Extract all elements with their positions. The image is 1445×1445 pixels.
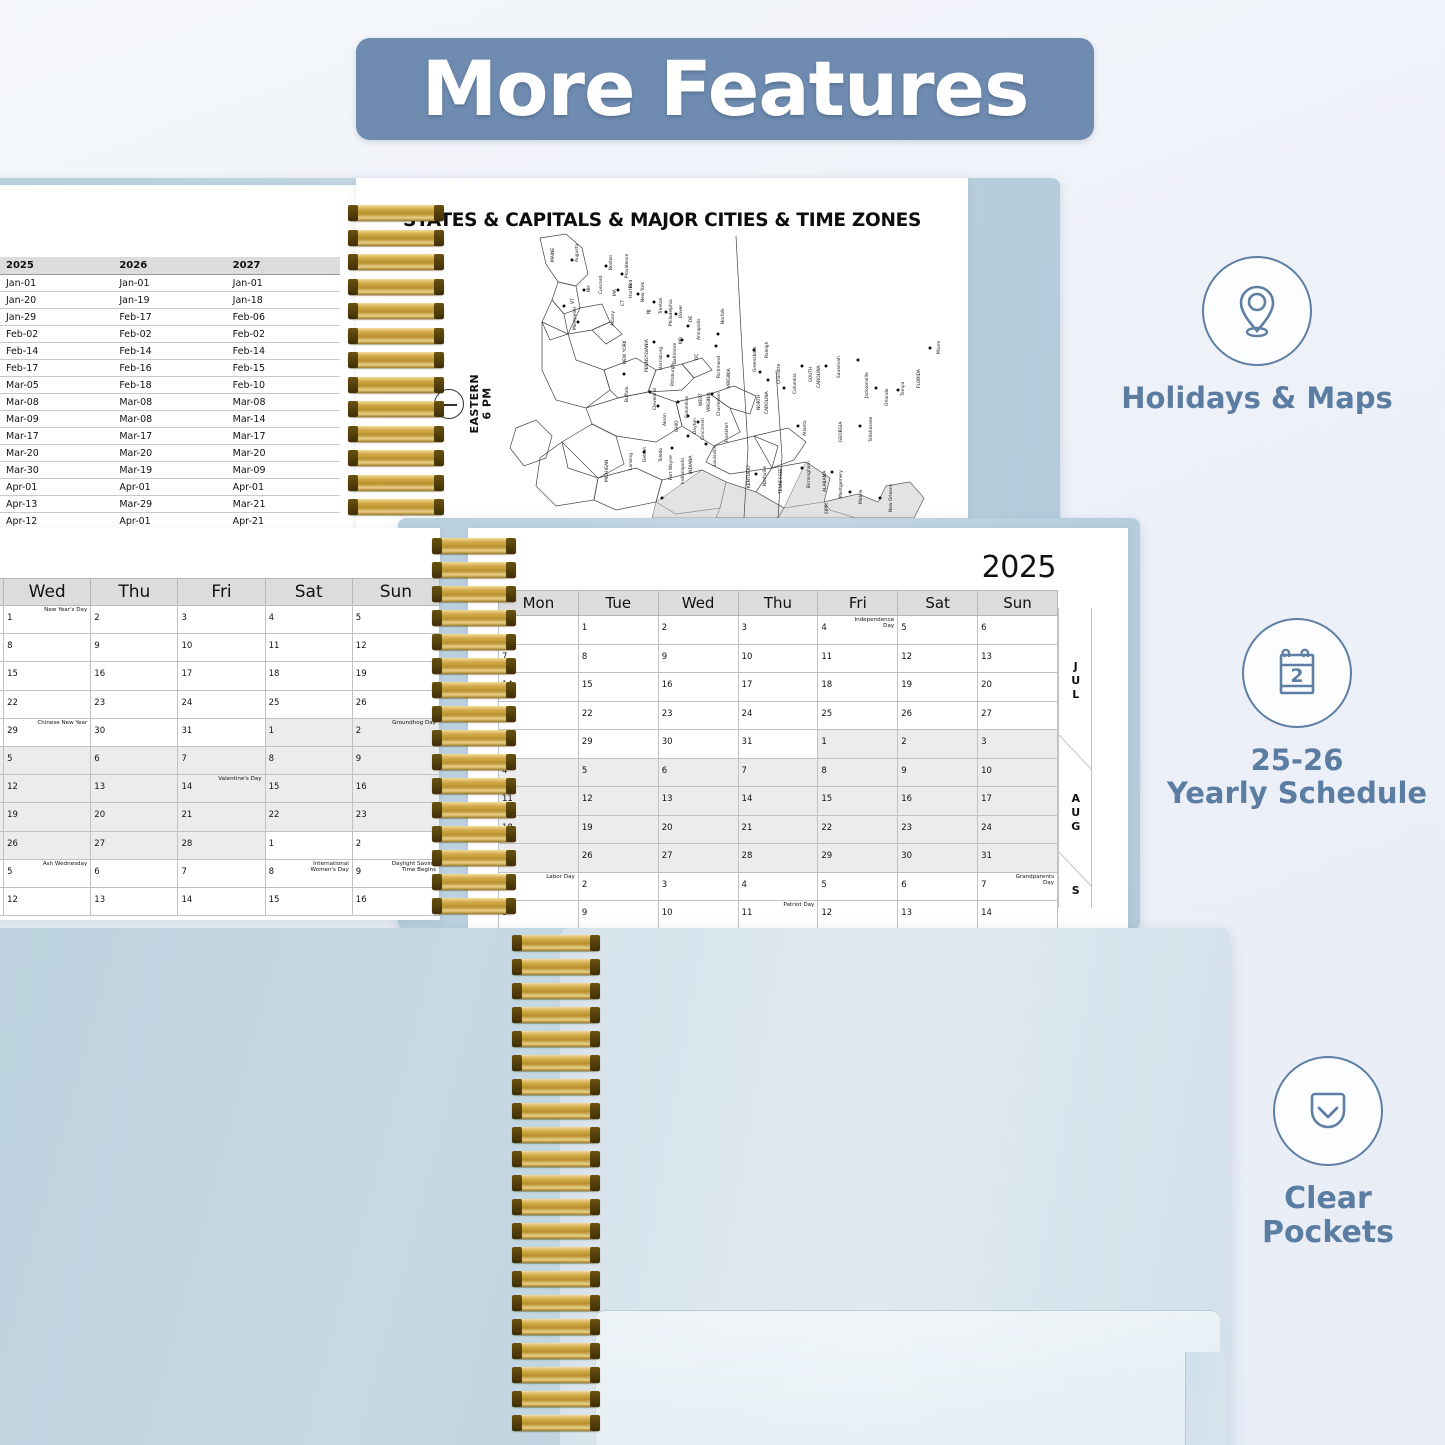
calendar-day-cell[interactable]: 10 [658,901,738,930]
month-tab-jul[interactable]: JUL [1059,608,1091,753]
calendar-day-cell[interactable]: 5 [578,758,658,787]
svg-text:TENNESSEE: TENNESSEE [778,468,784,495]
calendar-day-cell[interactable]: 3 [978,730,1058,759]
spiral-coil [432,610,516,626]
feature-yearly-schedule: 2 25-26 Yearly Schedule [1152,618,1442,810]
calendar-day-cell[interactable]: 9 [91,634,178,662]
calendar-day-cell[interactable]: 12 [4,775,91,803]
calendar-day-cell[interactable]: 3 [738,616,818,645]
calendar-week-row: 18192021222324 [499,815,1058,844]
calendar-day-cell[interactable]: 5 [898,616,978,645]
holidays-cell: Mar-05 [0,377,113,394]
calendar-day-cell[interactable]: 5Ash Wednesday [4,859,91,887]
calendar-day-cell[interactable]: 17 [978,787,1058,816]
calendar-day-cell[interactable]: 16 [898,787,978,816]
calendar-day-number: 18 [269,669,280,679]
spiral-coil [348,279,444,295]
svg-text:Tallahassee: Tallahassee [868,416,874,443]
feature-holidays-label: Holidays & Maps [1092,382,1422,415]
holidays-cell: Mar-09 [0,411,113,428]
holidays-cell: Mar-17 [227,428,340,445]
svg-text:Albany: Albany [610,311,616,326]
calendar-day-number: 23 [901,823,912,833]
svg-text:Charlotte: Charlotte [776,363,782,384]
holidays-cell: Apr-13 [0,496,113,513]
calendar-day-cell[interactable]: 2 [578,872,658,901]
calendar-day-cell[interactable]: 14 [978,901,1058,930]
calendar-day-cell[interactable]: 18 [818,673,898,702]
calendar-right-grid-wrap: MonTueWedThuFriSatSun 1234Independence D… [498,590,1058,930]
spiral-coil [432,826,516,842]
clear-pocket-panel [595,1310,1220,1445]
spiral-coil [432,682,516,698]
calendar-day-cell[interactable]: 22 [578,701,658,730]
feature-holidays-maps: Holidays & Maps [1092,256,1422,415]
calendar-day-cell[interactable]: 17 [738,673,818,702]
calendar-day-cell[interactable]: 10 [178,634,265,662]
calendar-day-cell[interactable]: 15 [4,662,91,690]
calendar-day-number: 31 [742,737,753,747]
calendar-day-number: 20 [981,680,992,690]
svg-text:SIPPI: SIPPI [824,503,830,514]
calendar-day-cell[interactable]: 9 [352,746,439,774]
calendar-day-cell[interactable]: 16 [352,775,439,803]
calendar-day-number: 26 [356,698,367,708]
calendar-day-cell[interactable]: 1New Year's Day [4,606,91,634]
calendar-day-cell[interactable]: 22 [265,803,352,831]
holidays-cell: Feb-02 [227,326,340,343]
calendar-day-cell[interactable]: 13 [91,775,178,803]
calendar-day-cell[interactable]: 10 [738,644,818,673]
calendar-day-cell[interactable]: 11 [818,644,898,673]
calendar-holiday-label: Groundhog Day [392,720,436,726]
calendar-day-number: 15 [269,895,280,905]
holidays-cell: Mar-20 [227,445,340,462]
calendar-holiday-label: Patriot Day [783,902,814,908]
calendar-day-cell[interactable]: 6 [978,616,1058,645]
calendar-day-cell[interactable]: 22 [4,690,91,718]
svg-text:Augusta: Augusta [574,244,580,262]
calendar-day-cell[interactable]: 11 [265,634,352,662]
calendar-day-cell[interactable]: 9 [578,901,658,930]
clear-pocket-notch [1185,1352,1225,1445]
calendar-day-cell[interactable]: 26 [578,844,658,873]
calendar-day-cell[interactable]: 26 [352,690,439,718]
svg-text:Lansing: Lansing [628,453,634,470]
calendar-holiday-label: Labor Day [546,874,575,880]
spiral-coil [348,401,444,417]
holidays-cell: Mar-08 [113,394,226,411]
calendar-day-cell[interactable]: 2Groundhog Day [352,718,439,746]
calendar-day-cell[interactable]: 31 [178,718,265,746]
calendar-day-number: 2 [356,839,361,849]
holidays-cell: Mar-29 [113,496,226,513]
pocket-icon-ring [1273,1056,1383,1166]
holidays-table-header-row: 202520262027 [0,257,340,275]
calendar-day-header-fri: Fri [818,591,898,616]
calendar-day-number: 13 [662,794,673,804]
calendar-day-number: 23 [94,698,105,708]
calendar-day-cell[interactable]: 4 [265,606,352,634]
calendar-day-cell[interactable]: 23 [352,803,439,831]
calendar-day-number: 9 [662,652,667,662]
calendar-day-cell[interactable]: 15 [265,775,352,803]
calendar-day-cell[interactable]: 1 [818,730,898,759]
calendar-day-cell[interactable]: 20 [978,673,1058,702]
calendar-day-cell[interactable]: 4 [738,872,818,901]
svg-text:Miami: Miami [936,341,942,354]
svg-text:RI: RI [628,284,634,288]
page-title: More Features [422,51,1029,127]
holidays-cell: Mar-30 [0,462,113,479]
calendar-day-cell[interactable]: 24 [978,815,1058,844]
calendar-day-number: 15 [7,669,18,679]
calendar-day-cell[interactable]: 13 [978,644,1058,673]
calendar-day-cell[interactable]: 27 [658,844,738,873]
calendar-day-cell[interactable]: 13 [91,887,178,915]
svg-text:Cleveland: Cleveland [652,388,658,410]
calendar-day-cell[interactable]: 20 [91,803,178,831]
calendar-day-cell[interactable]: 7 [178,859,265,887]
svg-text:Indianapolis: Indianapolis [680,457,686,484]
calendar-day-number: 27 [94,839,105,849]
calendar-right-body: 1234Independence Day56789101112131415161… [499,616,1058,930]
calendar-day-cell[interactable]: 8 [818,758,898,787]
calendar-day-number: 14 [181,895,192,905]
svg-text:Concord: Concord [598,276,604,294]
svg-text:Charleston: Charleston [716,392,722,416]
calendar-day-cell[interactable]: 6 [898,872,978,901]
calendar-day-cell[interactable]: 9 [898,758,978,787]
holidays-cell: Feb-17 [113,309,226,326]
calendar-day-number: 17 [981,794,992,804]
svg-text:Louisville: Louisville [712,445,718,466]
holidays-table-row: Jan-20Jan-19Jan-18 [0,292,340,309]
spiral-binding-middle [432,538,516,922]
pocket-chevron-icon [1298,1081,1358,1141]
calendar-day-cell[interactable]: 12 [818,901,898,930]
calendar-day-number: 16 [356,895,367,905]
svg-text:CAROLINA: CAROLINA [764,391,770,414]
spiral-coil [512,1391,600,1407]
spiral-coil [432,850,516,866]
calendar-day-cell[interactable]: 9 [658,644,738,673]
calendar-holiday-label: Chinese New Year [37,720,87,726]
spiral-coil [512,1103,600,1119]
calendar-day-cell[interactable]: 5 [818,872,898,901]
calendar-day-cell[interactable]: 17 [178,662,265,690]
spiral-coil [348,328,444,344]
calendar-holiday-label: Independence Day [845,617,894,630]
feature-schedule-label: 25-26 Yearly Schedule [1152,744,1442,810]
calendar-day-cell[interactable]: 19 [4,803,91,831]
calendar-day-number: 14 [981,908,992,918]
calendar-day-cell[interactable]: 30 [91,718,178,746]
svg-text:Dover: Dover [678,305,684,318]
calendar-day-cell[interactable]: 16 [91,662,178,690]
calendar-day-cell[interactable]: 31 [738,730,818,759]
calendar-day-cell[interactable]: 7 [738,758,818,787]
calendar-day-number: 2 [901,737,906,747]
month-tab-strip[interactable]: JULAUGS [1058,608,1092,908]
calendar-day-number: 6 [981,623,986,633]
calendar-day-cell[interactable]: 24 [178,690,265,718]
calendar-week-row: 28293031123 [499,730,1058,759]
calendar-day-cell[interactable]: 8International Women's Day [265,859,352,887]
calendar-day-cell[interactable]: 27 [978,701,1058,730]
calendar-day-number: 12 [356,641,367,651]
svg-text:Mobile: Mobile [858,489,864,504]
spiral-coil [432,874,516,890]
calendar-day-cell[interactable]: 1 [578,616,658,645]
holidays-cell: Mar-20 [113,445,226,462]
calendar-day-number: 27 [981,709,992,719]
calendar-day-cell[interactable]: 5 [352,606,439,634]
calendar-day-cell[interactable]: 9Daylight Saving Time Begins [352,859,439,887]
calendar-day-number: 1 [821,737,826,747]
calendar-day-number: 9 [901,766,906,776]
monthly-calendar-left-page: eWedThuFriSatSun 1New Year's Day23458910… [0,528,440,920]
calendar-day-number: 3 [662,880,667,890]
calendar-day-cell[interactable]: 15 [265,887,352,915]
holidays-table-row: Feb-17Feb-16Feb-15 [0,360,340,377]
holidays-cell: Feb-15 [227,360,340,377]
calendar-day-number: 10 [662,908,673,918]
calendar-day-number: 23 [662,709,673,719]
calendar-left-body: 1New Year's Day2345891011121516171819222… [0,606,440,916]
svg-text:Philadelphia: Philadelphia [668,299,674,326]
svg-text:VIRGINIA: VIRGINIA [726,368,732,388]
calendar-day-cell[interactable]: 12 [4,887,91,915]
calendar-day-cell[interactable]: 19 [898,673,978,702]
calendar-day-cell[interactable]: 20 [658,815,738,844]
holidays-cell: Apr-01 [113,513,226,530]
svg-text:Providence: Providence [624,254,630,278]
holidays-cell: Feb-14 [0,343,113,360]
calendar-day-cell[interactable]: 26 [4,831,91,859]
calendar-day-cell[interactable]: 6 [91,746,178,774]
holidays-col-header-2: 2027 [227,257,340,275]
svg-text:Pittsburgh: Pittsburgh [670,363,676,386]
calendar-day-cell[interactable]: 14Valentine's Day [178,775,265,803]
calendar-day-cell[interactable]: 3 [658,872,738,901]
holidays-cell: Apr-21 [227,513,340,530]
calendar-day-number: 15 [821,794,832,804]
calendar-day-cell[interactable]: 23 [898,815,978,844]
calendar-day-number: 11 [821,652,832,662]
calendar-day-cell[interactable]: 30 [898,844,978,873]
calendar-day-cell[interactable]: 25 [818,701,898,730]
calendar-day-cell[interactable]: 19 [578,815,658,844]
more-features-banner: More Features [356,38,1094,140]
calendar-day-cell[interactable]: 28 [738,844,818,873]
calendar-right-table: MonTueWedThuFriSatSun 1234Independence D… [498,590,1058,930]
calendar-day-number: 5 [821,880,826,890]
calendar-day-cell[interactable]: 12 [578,787,658,816]
location-pin-icon [1226,280,1288,342]
calendar-day-cell[interactable]: 29 [818,844,898,873]
holidays-col-header-1: 2026 [113,257,226,275]
calendar-day-cell[interactable]: 13 [898,901,978,930]
calendar-day-cell[interactable]: 14 [178,887,265,915]
svg-text:WEST: WEST [698,393,704,406]
calendar-day-cell[interactable]: 14 [738,787,818,816]
calendar-day-number: 16 [901,794,912,804]
calendar-day-number: 29 [7,726,18,736]
svg-text:New York: New York [640,281,646,302]
calendar-day-cell[interactable]: 23 [658,701,738,730]
spiral-coil [432,754,516,770]
calendar-day-cell[interactable]: 11Patriot Day [738,901,818,930]
calendar-day-number: 10 [181,641,192,651]
calendar-week-row: 21222324252627 [499,701,1058,730]
calendar-day-cell[interactable]: 25 [265,690,352,718]
calendar-day-cell[interactable]: 28 [178,831,265,859]
month-tab-s[interactable]: S [1059,873,1091,908]
calendar-day-cell[interactable]: 7Grandparents Day [978,872,1058,901]
calendar-day-cell[interactable]: 8 [4,634,91,662]
calendar-day-number: 22 [269,810,280,820]
calendar-day-cell[interactable]: 12 [352,634,439,662]
calendar-day-number: 4 [269,613,274,623]
calendar-day-cell[interactable]: 19 [352,662,439,690]
calendar-day-number: 7 [742,766,747,776]
calendar-day-number: 8 [269,754,274,764]
spiral-coil [348,377,444,393]
calendar-day-number: 14 [181,782,192,792]
calendar-day-cell[interactable]: 2 [91,606,178,634]
calendar-holiday-label: Daylight Saving Time Begins [383,861,436,874]
calendar-day-cell[interactable]: 5 [4,746,91,774]
holidays-table-row: Mar-05Feb-18Feb-10 [0,377,340,394]
month-tab-aug[interactable]: AUG [1059,756,1091,870]
calendar-day-cell[interactable]: 10 [978,758,1058,787]
calendar-day-cell[interactable]: 23 [91,690,178,718]
us-eastern-map-illustration: MAINE Augusta Boston Providence Hartford… [506,230,966,518]
calendar-day-header-fri: Fri [178,579,265,606]
calendar-day-number: 26 [7,839,18,849]
calendar-day-number: 13 [94,782,105,792]
feature-pockets-line1: Clear [1284,1181,1372,1216]
holidays-table-row: Apr-01Apr-01Apr-01 [0,479,340,496]
calendar-day-cell[interactable]: 8 [578,644,658,673]
timezone-label: EASTERN6 PM [469,374,494,433]
calendar-day-cell[interactable]: 26 [898,701,978,730]
spiral-coil [348,450,444,466]
svg-text:CAROLINA: CAROLINA [816,365,822,388]
calendar-week-row: 2223242526 [0,690,440,718]
calendar-day-cell[interactable]: 1 [265,831,352,859]
calendar-day-cell[interactable]: 13 [658,787,738,816]
calendar-day-cell[interactable]: 15 [578,673,658,702]
holidays-cell: Mar-17 [113,428,226,445]
calendar-day-cell[interactable]: 7 [178,746,265,774]
calendar-day-number: 13 [901,908,912,918]
calendar-day-cell[interactable]: 21 [178,803,265,831]
calendar-day-cell[interactable]: 8 [265,746,352,774]
calendar-day-number: 1 [582,623,587,633]
svg-text:MA: MA [612,289,618,296]
calendar-day-number: 8 [269,867,274,877]
spiral-coil [432,634,516,650]
calendar-day-cell[interactable]: 1 [265,718,352,746]
calendar-day-cell[interactable]: 18 [265,662,352,690]
calendar-day-number: 15 [582,680,593,690]
svg-text:INDIANA: INDIANA [688,455,694,474]
svg-text:Atlanta: Atlanta [802,420,808,436]
feature-schedule-line2: Yearly Schedule [1167,776,1427,810]
calendar-day-number: 16 [94,669,105,679]
calendar-day-cell[interactable]: 4Independence Day [818,616,898,645]
svg-text:Columbus: Columbus [684,395,690,418]
holidays-table-row: Jan-29Feb-17Feb-06 [0,309,340,326]
calendar-day-cell[interactable]: 6 [658,758,738,787]
calendar-day-number: 31 [181,726,192,736]
calendar-left-grid-wrap: eWedThuFriSatSun 1New Year's Day23458910… [0,578,440,916]
calendar-day-cell[interactable]: 12 [898,644,978,673]
calendar-day-number: 26 [582,851,593,861]
holidays-cell: Feb-18 [113,377,226,394]
holidays-table-row: Mar-09Mar-08Mar-14 [0,411,340,428]
calendar-day-cell[interactable]: 2 [352,831,439,859]
holidays-cell: Mar-19 [113,462,226,479]
calendar-day-cell[interactable]: 24 [738,701,818,730]
calendar-day-cell[interactable]: 30 [658,730,738,759]
calendar-day-cell[interactable]: 16 [658,673,738,702]
svg-text:Nashville: Nashville [762,466,768,486]
calendar-day-number: 14 [742,794,753,804]
calendar-day-cell[interactable]: 31 [978,844,1058,873]
spiral-coil [512,983,600,999]
calendar-day-cell[interactable]: 6 [91,859,178,887]
calendar-icon: 2 [1265,641,1329,705]
calendar-day-cell[interactable]: 21 [738,815,818,844]
holidays-table-body: Jan-01Jan-01Jan-01Jan-20Jan-19Jan-18Jan-… [0,275,340,530]
spiral-coil [512,1199,600,1215]
calendar-day-number: 22 [582,709,593,719]
svg-text:Savannah: Savannah [836,356,842,378]
calendar-day-number: 22 [821,823,832,833]
calendar-day-cell[interactable]: 3 [178,606,265,634]
calendar-day-cell[interactable]: 15 [818,787,898,816]
calendar-day-number: 5 [901,623,906,633]
calendar-day-cell[interactable]: 22 [818,815,898,844]
calendar-week-row: 78910111213 [499,644,1058,673]
calendar-day-cell[interactable]: 29 [578,730,658,759]
calendar-day-number: 31 [981,851,992,861]
spiral-coil [432,658,516,674]
holidays-table-row: Feb-02Feb-02Feb-02 [0,326,340,343]
calendar-day-cell[interactable]: 27 [91,831,178,859]
calendar-day-cell[interactable]: 2 [898,730,978,759]
holidays-cell: Mar-09 [227,462,340,479]
holidays-cell: Feb-14 [227,343,340,360]
svg-text:Cincinnati: Cincinnati [700,418,706,440]
calendar-day-cell[interactable]: 2 [658,616,738,645]
calendar-day-number: 5 [7,754,12,764]
holidays-col-header-0: 2025 [0,257,113,275]
holidays-cell: Mar-21 [227,496,340,513]
calendar-week-row: 891011Patriot Day121314 [499,901,1058,930]
calendar-day-number: 4 [821,623,826,633]
holidays-table-row: Mar-08Mar-08Mar-08 [0,394,340,411]
calendar-day-number: 23 [356,810,367,820]
calendar-week-row: 121314Valentine's Day1516 [0,775,440,803]
calendar-day-cell[interactable]: 16 [352,887,439,915]
calendar-day-cell[interactable]: 29Chinese New Year [4,718,91,746]
calendar-day-number: 30 [901,851,912,861]
spiral-coil [512,959,600,975]
